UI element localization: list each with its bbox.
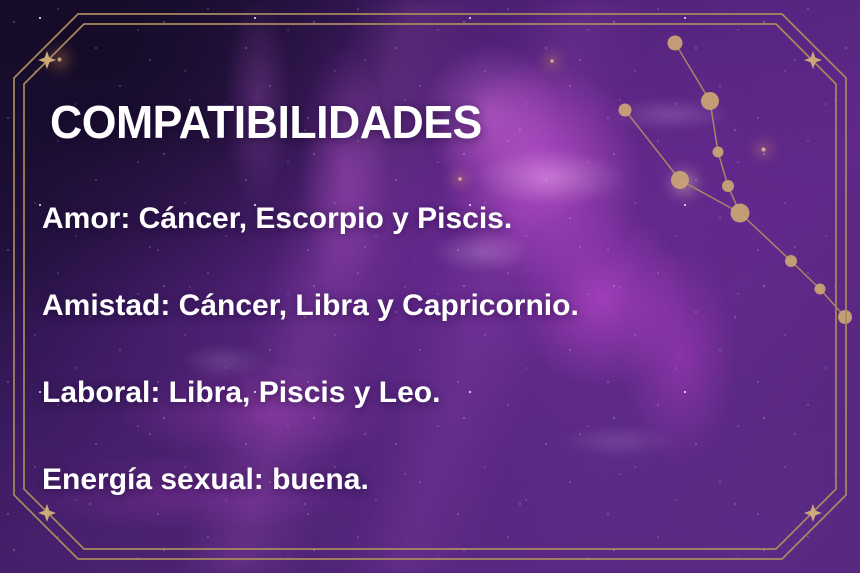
compatibility-line-amor: Amor: Cáncer, Escorpio y Piscis.: [42, 202, 512, 236]
horoscope-compatibility-card: COMPATIBILIDADES Amor: Cáncer, Escorpio …: [0, 0, 860, 573]
compatibility-line-amistad: Amistad: Cáncer, Libra y Capricornio.: [42, 289, 579, 323]
page-title: COMPATIBILIDADES: [50, 95, 482, 149]
compatibility-line-laboral: Laboral: Libra, Piscis y Leo.: [42, 376, 440, 410]
compatibility-line-energia: Energía sexual: buena.: [42, 463, 369, 497]
card-text-content: COMPATIBILIDADES Amor: Cáncer, Escorpio …: [0, 0, 860, 573]
